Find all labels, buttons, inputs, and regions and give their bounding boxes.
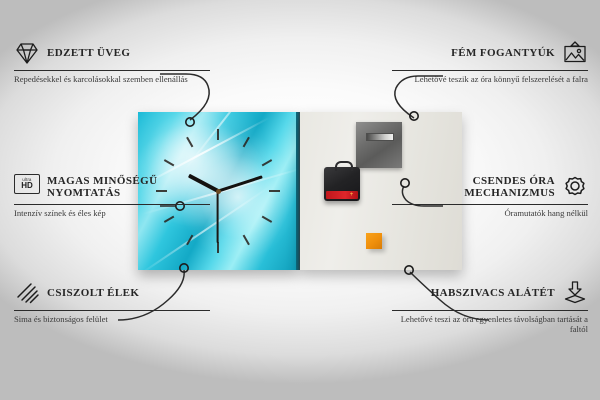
gear-icon: [562, 174, 588, 200]
clock-tick: [217, 129, 219, 140]
callout-description: Intenzív színek és éles kép: [14, 208, 210, 218]
callout-divider: [14, 70, 210, 71]
callout-divider: [392, 204, 588, 205]
metal-hanger-plate: [356, 122, 402, 168]
callout-foam-backing: HABSZIVACS ALÁTÉT Lehetővé teszi az óra …: [392, 280, 588, 335]
callout-divider: [392, 70, 588, 71]
callout-title: CSENDES ÓRA MECHANIZMUS: [392, 175, 555, 200]
foam-pad: [366, 233, 382, 249]
arrow-onto-pad-icon: [562, 280, 588, 306]
infographic-canvas: +: [0, 0, 600, 400]
callout-title: MAGAS MINŐSÉGŰ NYOMTATÁS: [47, 175, 210, 200]
clock-tick: [262, 216, 273, 223]
mechanism-loop: [335, 161, 353, 171]
callout-title: CSISZOLT ÉLEK: [47, 287, 139, 300]
callout-divider: [14, 204, 210, 205]
callout-title: HABSZIVACS ALÁTÉT: [431, 287, 555, 300]
clock-tick: [243, 137, 250, 148]
callout-title: FÉM FOGANTYÚK: [451, 47, 555, 60]
callout-metal-handles: FÉM FOGANTYÚK Lehetővé teszik az óra kön…: [392, 40, 588, 84]
callout-description: Óramutatók hang nélkül: [392, 208, 588, 218]
ultra-hd-badge-main: HD: [21, 182, 33, 190]
clock-center-cap: [216, 189, 221, 194]
callout-divider: [14, 310, 210, 311]
picture-hanger-icon: [562, 40, 588, 66]
callout-description: Repedésekkel és karcolásokkal szemben el…: [14, 74, 210, 84]
battery-plus-marker: +: [349, 192, 354, 198]
callout-description: Lehetővé teszik az óra könnyű felszerelé…: [392, 74, 588, 84]
clock-tick: [164, 159, 175, 166]
callout-silent-mechanism: CSENDES ÓRA MECHANIZMUS Óramutatók hang …: [392, 174, 588, 218]
clock-tick: [243, 235, 250, 246]
clock-second-hand: [217, 191, 219, 243]
diamond-icon: [14, 40, 40, 66]
callout-divider: [392, 310, 588, 311]
diagonal-lines-icon: [14, 280, 40, 306]
battery: +: [326, 191, 358, 199]
callout-tempered-glass: EDZETT ÜVEG Repedésekkel és karcolásokka…: [14, 40, 210, 84]
clock-tick: [186, 235, 193, 246]
clock-tick: [217, 242, 219, 253]
clock-tick: [269, 190, 280, 192]
clock-tick: [262, 159, 273, 166]
callout-description: Sima és biztonságos felület: [14, 314, 210, 324]
callout-hd-print: ultra HD MAGAS MINŐSÉGŰ NYOMTATÁS Intenz…: [14, 174, 210, 218]
hanger-slot: [366, 133, 394, 141]
callout-description: Lehetővé teszi az óra egyenletes távolsá…: [392, 314, 588, 335]
callout-title: EDZETT ÜVEG: [47, 47, 130, 60]
clock-minute-hand: [218, 175, 263, 192]
callout-polished-edges: CSISZOLT ÉLEK Sima és biztonságos felüle…: [14, 280, 210, 324]
clock-tick: [186, 137, 193, 148]
clock-mechanism: +: [324, 167, 360, 201]
ultra-hd-icon: ultra HD: [14, 174, 40, 200]
